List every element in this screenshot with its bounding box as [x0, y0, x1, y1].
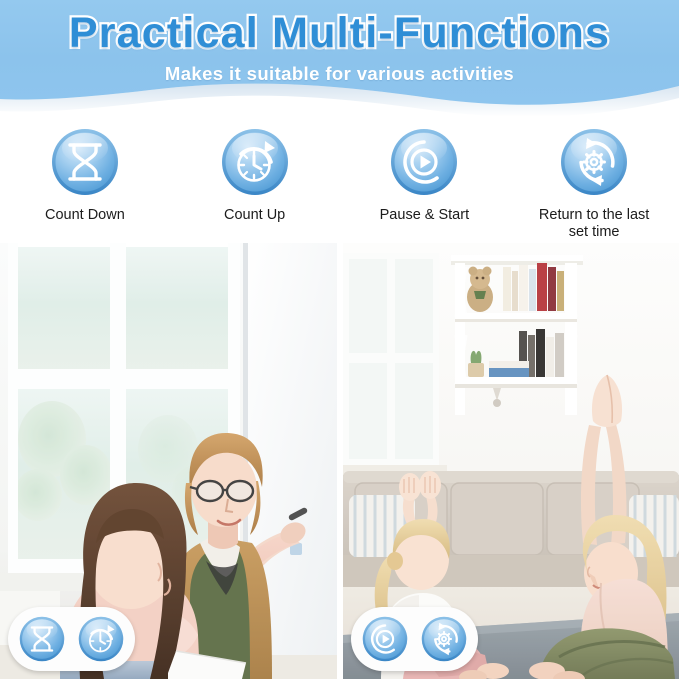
badge-right — [351, 607, 478, 671]
photo-classroom — [0, 243, 337, 679]
hourglass-icon — [45, 122, 125, 202]
return-last-time-icon-wrap — [554, 122, 634, 202]
clock-arrow-icon — [215, 122, 295, 202]
feature-count-up[interactable]: Count Up — [170, 122, 340, 224]
badge-left — [8, 607, 135, 671]
clock-arrow-icon — [74, 612, 128, 666]
play-circle-icon — [384, 122, 464, 202]
feature-label: Count Down — [45, 207, 125, 224]
feature-count-down[interactable]: Count Down — [0, 122, 170, 224]
feature-label: Pause & Start — [380, 207, 469, 224]
infographic-page: Practical Multi-Functions Makes it suita… — [0, 0, 679, 679]
hourglass-icon — [15, 612, 69, 666]
feature-return-last-time[interactable]: Return to the last set time — [509, 122, 679, 241]
feature-label: Return to the last set time — [539, 207, 649, 241]
feature-list: Count Down — [0, 122, 679, 244]
gear-refresh-icon — [417, 612, 471, 666]
page-title: Practical Multi-Functions — [69, 8, 610, 58]
photo-row — [0, 243, 679, 679]
count-down-icon-wrap — [45, 122, 125, 202]
count-up-icon-wrap — [215, 122, 295, 202]
page-subtitle: Makes it suitable for various activities — [165, 63, 514, 85]
play-circle-icon — [358, 612, 412, 666]
gear-refresh-icon — [554, 122, 634, 202]
pause-start-icon-wrap — [384, 122, 464, 202]
feature-pause-start[interactable]: Pause & Start — [340, 122, 510, 224]
photo-yoga — [343, 243, 679, 679]
header-banner: Practical Multi-Functions Makes it suita… — [0, 0, 679, 118]
feature-label: Count Up — [224, 207, 285, 224]
